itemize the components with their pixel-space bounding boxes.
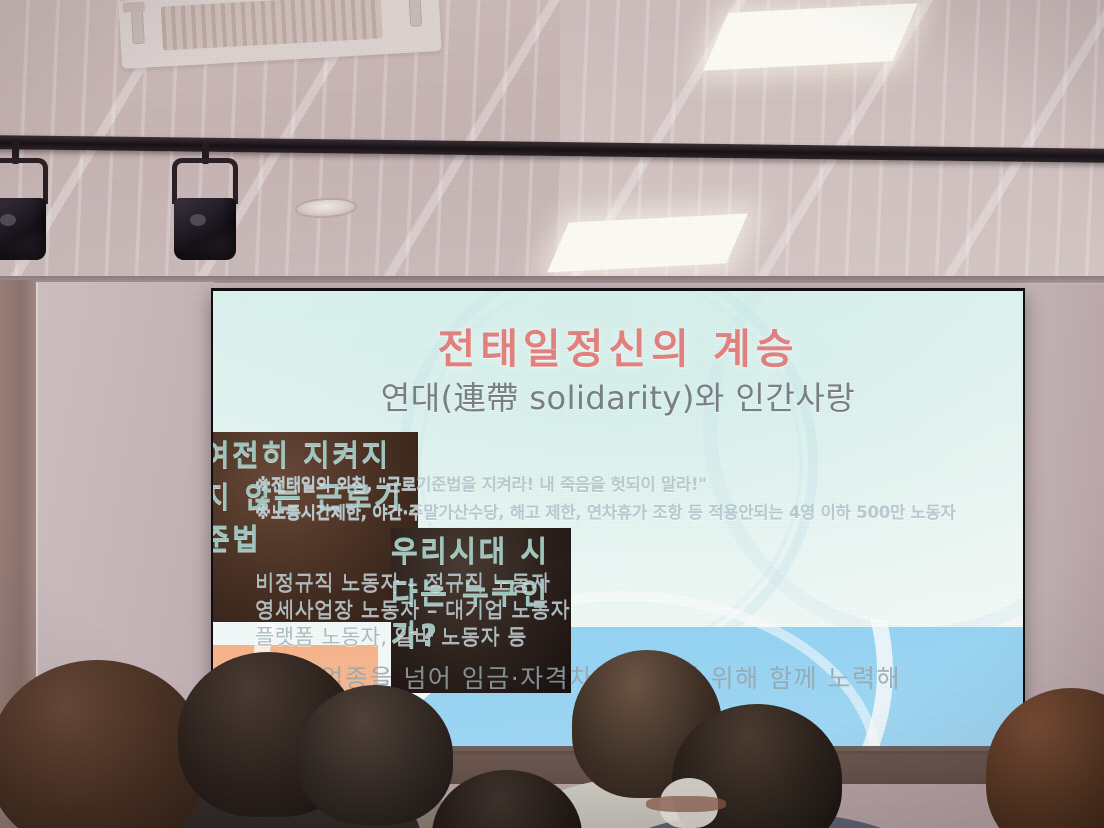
audience-collar <box>646 796 726 812</box>
vent-slot-left <box>131 10 145 45</box>
slide-subtitle: 연대(連帶 solidarity)와 인간사랑 <box>213 373 1023 419</box>
audience-head-3 <box>298 685 453 825</box>
vent-notch <box>122 2 145 13</box>
slide-section-1-bullet-1: ※전태일의 외침, "근로기준법을 지켜라! 내 죽음을 헛되이 말라!" <box>255 471 707 495</box>
stage-light-left-lens <box>0 214 16 226</box>
vent-grille <box>161 0 383 51</box>
slide-section-2-line-1: 비정규직 노동자 – 정규직 노동자 <box>255 567 551 597</box>
slide-section-1-bullet-2: ※노동시간제한, 야간·주말가산수당, 해고 제한, 연차휴가 조항 등 적용안… <box>255 499 955 523</box>
vent-slot-right <box>408 0 422 27</box>
audience-silhouettes <box>0 600 1104 828</box>
audience-head-7 <box>432 770 582 828</box>
stage-light-right-body <box>174 198 236 260</box>
fluorescent-panel-1 <box>703 3 918 71</box>
audience-head-6 <box>986 688 1104 828</box>
stage-light-left-body <box>0 198 46 260</box>
audience-head-1 <box>0 660 205 828</box>
fluorescent-panel-2 <box>547 213 748 272</box>
stage-light-right-lens <box>190 214 206 226</box>
photo-scene: 전태일정신의 계승 연대(連帶 solidarity)와 인간사랑 여전히 지켜… <box>0 0 1104 828</box>
slide-title: 전태일정신의 계승 <box>213 315 1023 375</box>
